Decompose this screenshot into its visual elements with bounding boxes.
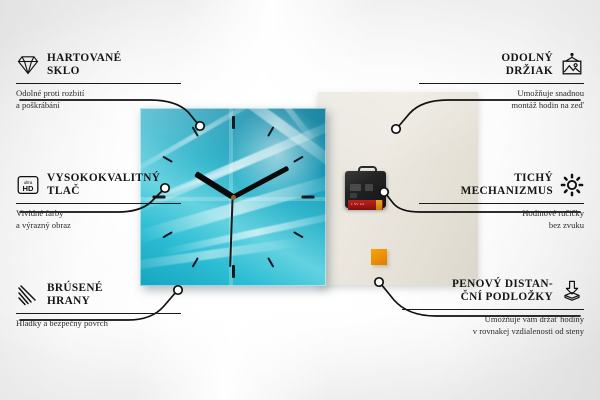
feature-title-line2: ČNÍ PODLOŽKY <box>452 291 553 304</box>
feature-divider <box>419 83 584 84</box>
feature-divider <box>16 313 181 314</box>
feature-desc-line1: Umožňuje vám držať hodiny <box>402 314 584 326</box>
feature-title-line1: HARTOVANÉ <box>47 52 122 65</box>
picture-frame-icon <box>560 53 584 77</box>
feature-divider <box>16 83 181 84</box>
feature-foam-spacers: PENOVÝ DISTAN- ČNÍ PODLOŽKY Umožňuje vám… <box>402 278 584 338</box>
feature-desc-line2: bez zvuku <box>419 220 584 232</box>
diagonal-lines-icon <box>16 283 40 307</box>
connector-dot-mechanism <box>380 188 388 196</box>
feature-desc-line2: a poškrábání <box>16 100 181 112</box>
feature-divider <box>419 203 584 204</box>
feature-divider <box>402 309 584 310</box>
feature-desc-line1: Hodinové ručičky <box>419 208 584 220</box>
feature-desc-line2: montáž hodin na zeď <box>419 100 584 112</box>
feature-desc-line1: Umožňuje snadnou <box>419 88 584 100</box>
feature-title-line2: HRANY <box>47 295 103 308</box>
feature-tempered-glass: HARTOVANÉ SKLO Odolné proti rozbití a po… <box>16 52 181 112</box>
arrow-stack-icon <box>560 279 584 303</box>
feature-silent-mechanism: TICHÝ MECHANIZMUS Hodinové ručičky bez z… <box>419 172 584 232</box>
infographic-canvas: 1.5V AA <box>0 0 600 400</box>
feature-desc-line1: Odolné proti rozbití <box>16 88 181 100</box>
feature-desc-line1: Hladký a bezpečný povrch <box>16 318 181 330</box>
feature-title-line2: SKLO <box>47 65 122 78</box>
gear-icon <box>560 173 584 197</box>
feature-polished-edges: BRÚSENÉ HRANY Hladký a bezpečný povrch <box>16 282 181 330</box>
connector-dot-foam <box>375 278 383 286</box>
feature-title-line1: TICHÝ <box>461 172 553 185</box>
feature-title-line1: PENOVÝ DISTAN- <box>452 278 553 291</box>
feature-title-line2: DRŽIAK <box>501 65 553 78</box>
ultra-hd-icon: ultra HD <box>16 173 40 197</box>
feature-title-line1: VYSOKOKVALITNÝ <box>47 172 160 185</box>
feature-title-line1: ODOLNÝ <box>501 52 553 65</box>
feature-divider <box>16 203 181 204</box>
ultra-hd-icon-bottom-label: HD <box>23 185 34 194</box>
connector-dot-tempered-glass <box>196 122 204 130</box>
diamond-icon <box>16 53 40 77</box>
feature-durable-hanger: ODOLNÝ DRŽIAK Umožňuje snadnou montáž ho… <box>419 52 584 112</box>
feature-desc-line1: Vivídné farby <box>16 208 181 220</box>
feature-desc-line2: a výrazný obraz <box>16 220 181 232</box>
connector-dot-hanger <box>392 125 400 133</box>
feature-high-quality-print: ultra HD VYSOKOKVALITNÝ TLAČ Vivídné far… <box>16 172 181 232</box>
feature-desc-line2: v rovnakej vzdialenosti od steny <box>402 326 584 338</box>
feature-title-line2: TLAČ <box>47 185 160 198</box>
feature-title-line2: MECHANIZMUS <box>461 185 553 198</box>
feature-title-line1: BRÚSENÉ <box>47 282 103 295</box>
